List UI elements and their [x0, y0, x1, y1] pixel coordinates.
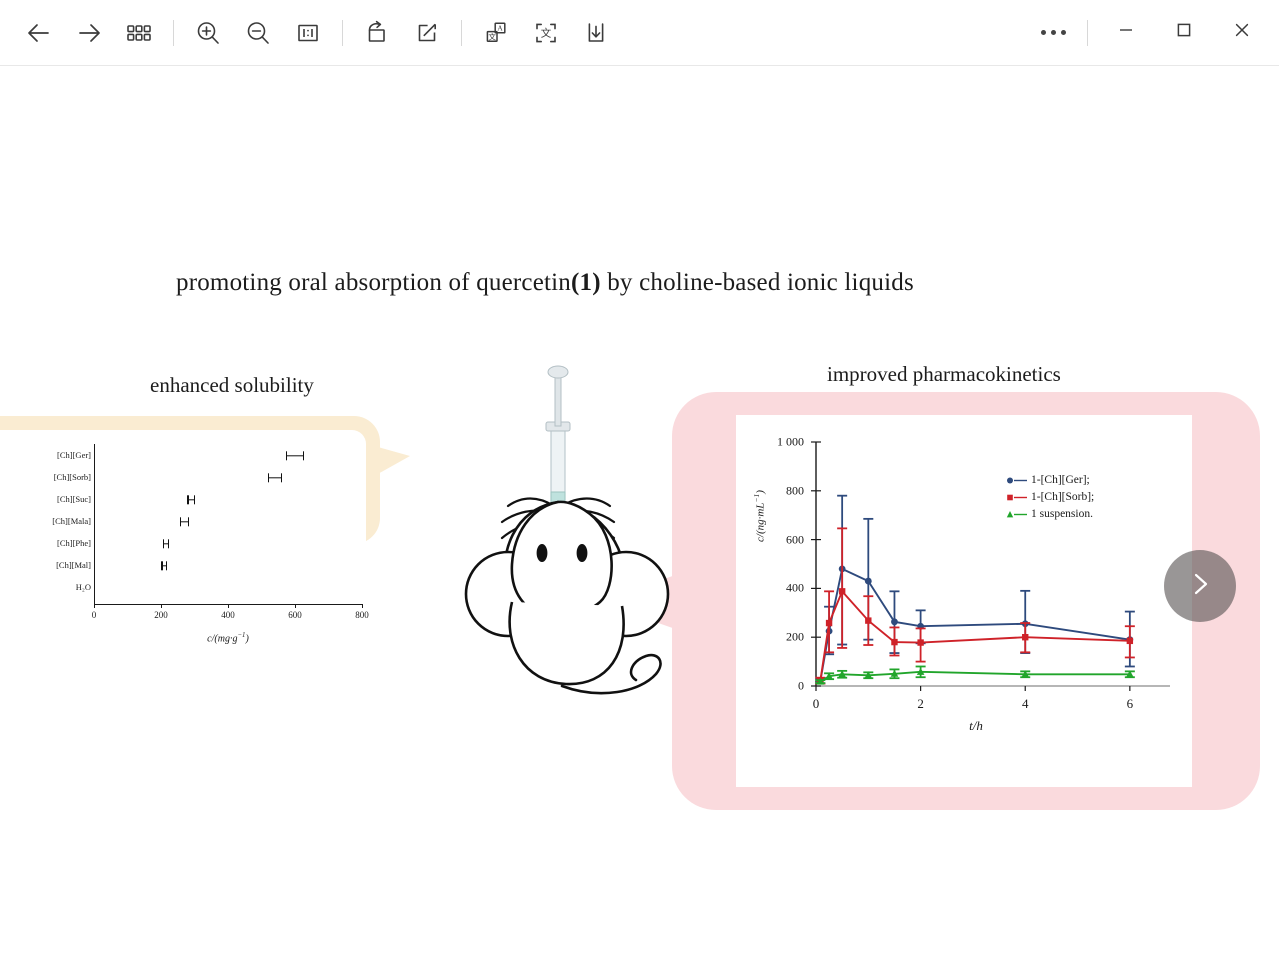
forward-icon: [75, 19, 103, 47]
thumbnails-button[interactable]: [114, 8, 164, 58]
bar-chart-row: [Ch][Mal]: [94, 558, 164, 573]
close-button[interactable]: [1213, 8, 1271, 58]
page-title-tail: by choline-based ionic liquids: [607, 269, 914, 296]
line-chart-x-label: t/h: [816, 718, 1136, 734]
actual-size-icon: [294, 19, 322, 47]
forward-button[interactable]: [64, 8, 114, 58]
window-controls-group: [1028, 8, 1279, 58]
bar-chart-tick: [295, 604, 296, 608]
line-chart-legend-item: 1 suspension.: [1006, 506, 1094, 523]
solubility-bar-chart: [Ch][Ger][Ch][Sorb][Ch][Suc][Ch][Mala][C…: [24, 444, 374, 674]
bar-chart-error-bar: [180, 521, 189, 522]
extract-text-button[interactable]: 文: [521, 8, 571, 58]
line-chart-line: [820, 569, 1130, 681]
toolbar-divider-3: [461, 20, 462, 46]
next-page-button[interactable]: [1164, 550, 1236, 622]
bar-chart-category-label: [Ch][Mal]: [56, 561, 91, 570]
line-chart-y-tick-label: 600: [758, 532, 804, 547]
toolbar-divider-1: [173, 20, 174, 46]
mouse-body: [510, 602, 624, 684]
document-page: promoting oral absorption of quercetin(1…: [0, 66, 1279, 967]
line-chart-marker: [865, 617, 871, 623]
svg-text:文: 文: [541, 26, 552, 39]
bar-chart-row: [Ch][Mala]: [94, 514, 184, 529]
legend-marker-icon: [1006, 509, 1028, 520]
page-title: promoting oral absorption of quercetin(1…: [176, 269, 914, 297]
mouse-eye-left: [537, 544, 548, 562]
line-chart-marker: [891, 618, 898, 625]
bar-chart-row: [Ch][Sorb]: [94, 470, 275, 485]
line-chart-y-tick-label: 200: [758, 630, 804, 645]
line-chart-x-tick-label: 4: [1022, 696, 1029, 712]
page-title-compound: (1): [571, 269, 601, 296]
bar-chart-tick-label: 400: [221, 610, 235, 620]
bar-chart-row: H₂O: [94, 580, 95, 595]
bar-chart-tick-label: 200: [154, 610, 168, 620]
line-chart-legend-label: 1 suspension.: [1031, 506, 1093, 523]
bar-chart-error-bar: [163, 543, 170, 544]
bar-chart-tick-label: 600: [288, 610, 302, 620]
legend-marker-icon: [1006, 475, 1028, 486]
bar-chart-tick-label: 0: [92, 610, 97, 620]
line-chart-series: [815, 496, 1135, 685]
line-chart-marker: [1127, 638, 1133, 644]
bar-chart-tick: [362, 604, 363, 608]
zoom-out-button[interactable]: [233, 8, 283, 58]
svg-text:A: A: [497, 23, 503, 32]
line-chart-legend-item: 1-[Ch][Ger];: [1006, 472, 1094, 489]
bar-chart-x-label: c/(mg·g−1): [94, 632, 362, 644]
more-options-button[interactable]: [1028, 8, 1078, 58]
rotate-button[interactable]: [352, 8, 402, 58]
line-chart-marker: [1022, 634, 1028, 640]
extract-text-icon: 文: [531, 18, 561, 48]
minimize-button[interactable]: [1097, 8, 1155, 58]
line-chart-line: [820, 591, 1130, 680]
bar-chart-category-label: [Ch][Sorb]: [54, 473, 91, 482]
line-chart-plot: [756, 424, 1176, 724]
line-chart-x-tick-label: 0: [813, 696, 820, 712]
bar-chart-row: [Ch][Ger]: [94, 448, 295, 463]
chevron-right-icon: [1183, 567, 1217, 606]
mouse-illustration: [450, 356, 680, 706]
line-chart-marker: [891, 639, 897, 645]
maximize-icon: [1171, 17, 1197, 48]
line-chart-y-tick-label: 800: [758, 483, 804, 498]
download-button[interactable]: [571, 8, 621, 58]
svg-text:文: 文: [488, 31, 496, 41]
line-chart-legend-label: 1-[Ch][Ger];: [1031, 472, 1090, 489]
line-chart-series: [815, 666, 1135, 684]
line-chart-y-tick-label: 1 000: [758, 435, 804, 450]
line-chart-y-tick-label: 0: [758, 679, 804, 694]
bar-chart-category-label: [Ch][Phe]: [57, 539, 91, 548]
back-button[interactable]: [14, 8, 64, 58]
minimize-icon: [1113, 17, 1139, 48]
bar-chart-row: [Ch][Suc]: [94, 492, 191, 507]
bar-chart-error-bar: [161, 565, 167, 566]
line-chart-marker: [839, 588, 845, 594]
annotate-button[interactable]: [402, 8, 452, 58]
bar-chart-category-label: [Ch][Suc]: [57, 495, 91, 504]
bar-chart-tick: [94, 604, 95, 608]
thumbnails-icon: [124, 18, 154, 48]
translate-button[interactable]: A 文: [471, 8, 521, 58]
bar-chart-error-bar: [286, 455, 305, 456]
bar-chart-tick: [228, 604, 229, 608]
bar-chart-error-bar: [187, 499, 195, 500]
bar-chart-tick-label: 800: [355, 610, 369, 620]
bar-chart-category-label: H₂O: [76, 583, 91, 592]
actual-size-button[interactable]: [283, 8, 333, 58]
app-toolbar: A 文 文: [0, 0, 1279, 66]
line-chart-x-tick-label: 2: [917, 696, 924, 712]
line-chart-marker: [865, 578, 872, 585]
bar-chart-category-label: [Ch][Ger]: [57, 451, 91, 460]
line-chart-series: [815, 528, 1135, 683]
panel-heading-solubility: enhanced solubility: [150, 373, 314, 398]
bar-chart-category-label: [Ch][Mala]: [52, 517, 91, 526]
translate-icon: A 文: [481, 18, 511, 48]
bar-chart-row: [Ch][Phe]: [94, 536, 166, 551]
line-chart-x-tick-label: 6: [1127, 696, 1134, 712]
more-horizontal-icon: [1041, 30, 1066, 35]
toolbar-divider-2: [342, 20, 343, 46]
page-title-main: promoting oral absorption of quercetin: [176, 269, 571, 296]
back-icon: [25, 19, 53, 47]
zoom-in-icon: [193, 18, 223, 48]
line-chart-marker: [917, 639, 923, 645]
rotate-icon: [362, 18, 392, 48]
download-icon: [581, 18, 611, 48]
line-chart-legend: 1-[Ch][Ger];1-[Ch][Sorb];1 suspension.: [1006, 472, 1094, 523]
close-icon: [1229, 17, 1255, 48]
line-chart-marker: [826, 620, 832, 626]
pharmacokinetics-line-chart: c/(ng·mL−1) 02004006008001 000 0246 t/h …: [756, 424, 1176, 774]
line-chart-legend-label: 1-[Ch][Sorb];: [1031, 489, 1094, 506]
mouse-eye-right: [577, 544, 588, 562]
legend-marker-icon: [1006, 492, 1028, 503]
toolbar-divider-4: [1087, 20, 1088, 46]
bar-chart-tick: [161, 604, 162, 608]
maximize-button[interactable]: [1155, 8, 1213, 58]
line-chart-legend-item: 1-[Ch][Sorb];: [1006, 489, 1094, 506]
annotate-icon: [412, 18, 442, 48]
line-chart-y-tick-label: 400: [758, 581, 804, 596]
bar-chart-error-bar: [268, 477, 283, 478]
zoom-in-button[interactable]: [183, 8, 233, 58]
toolbar-left-group: A 文 文: [0, 8, 621, 58]
panel-heading-pharmacokinetics: improved pharmacokinetics: [827, 362, 1061, 387]
zoom-out-icon: [243, 18, 273, 48]
